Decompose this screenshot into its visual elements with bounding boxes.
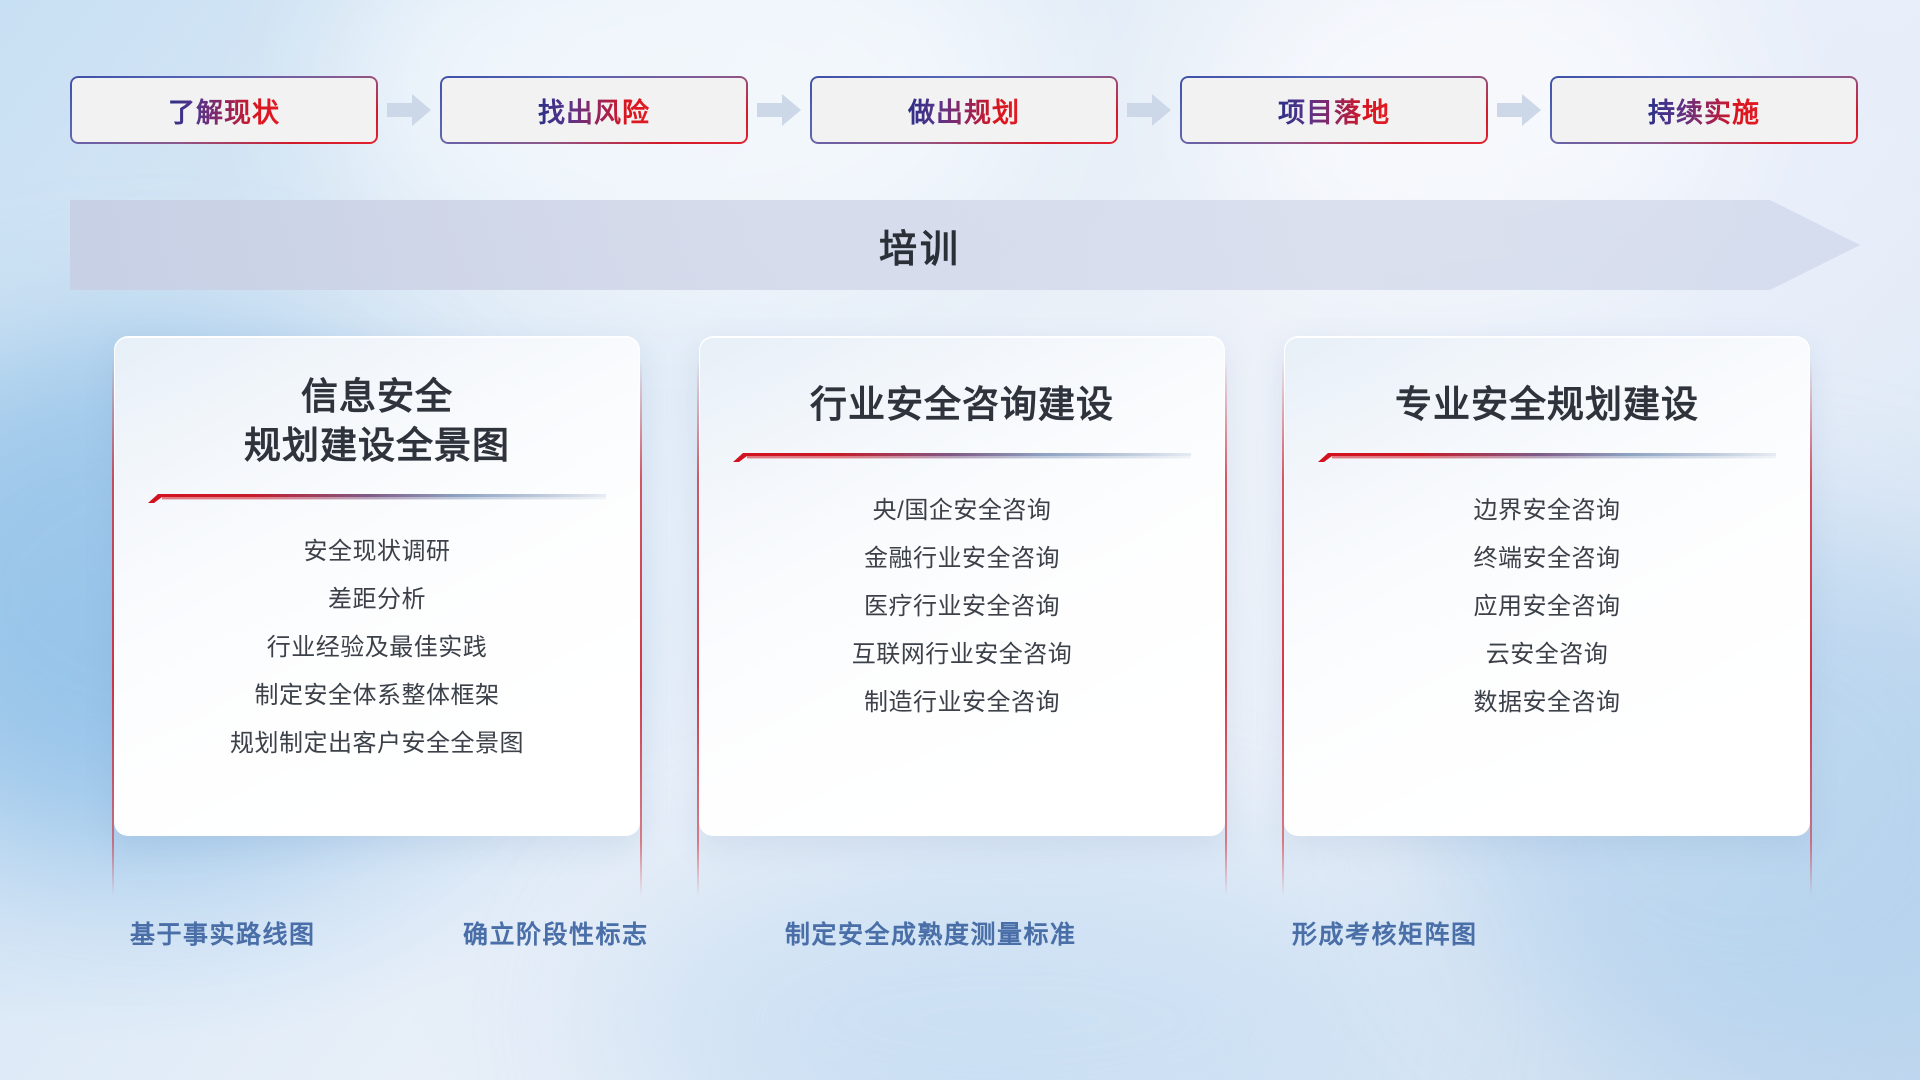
card-accent-rail-right: [640, 360, 642, 896]
list-item: 数据安全咨询: [1474, 682, 1621, 724]
training-banner: 培训: [70, 200, 1860, 290]
list-item: 应用安全咨询: [1474, 586, 1621, 628]
step-box-1[interactable]: 了解现状: [70, 76, 378, 144]
slide-canvas: 了解现状 找出风险 做出规划 项目落地: [0, 0, 1920, 1080]
card-accent-rail-right: [1225, 360, 1227, 896]
step-box-2[interactable]: 找出风险: [440, 76, 748, 144]
card-title-line: 行业安全咨询建设: [810, 381, 1114, 430]
caption-4: 形成考核矩阵图: [1292, 915, 1478, 951]
step-label: 找出风险: [538, 91, 650, 130]
card-divider: [148, 493, 606, 505]
list-item: 金融行业安全咨询: [864, 538, 1060, 580]
step-box-3[interactable]: 做出规划: [810, 76, 1118, 144]
list-item: 差距分析: [328, 579, 426, 621]
list-item: 央/国企安全咨询: [873, 490, 1052, 532]
banner-title: 培训: [70, 200, 1770, 290]
card-2-wrapper: 行业安全咨询建设: [697, 336, 1227, 876]
list-item: 行业经验及最佳实践: [267, 627, 488, 669]
card-3-list: 边界安全咨询 终端安全咨询 应用安全咨询 云安全咨询 数据安全咨询: [1285, 490, 1809, 724]
list-item: 安全现状调研: [304, 531, 451, 573]
arrow-right-icon: [378, 89, 440, 131]
card-title-line: 信息安全: [244, 373, 510, 422]
step-box-4[interactable]: 项目落地: [1180, 76, 1488, 144]
card-2-list: 央/国企安全咨询 金融行业安全咨询 医疗行业安全咨询 互联网行业安全咨询 制造行…: [700, 490, 1224, 724]
card-row: 信息安全 规划建设全景图: [112, 336, 1812, 876]
arrow-right-icon: [1118, 89, 1180, 131]
list-item: 医疗行业安全咨询: [864, 586, 1060, 628]
arrow-right-icon: [748, 89, 810, 131]
step-label: 了解现状: [168, 91, 280, 130]
list-item: 边界安全咨询: [1474, 490, 1621, 532]
list-item: 制定安全体系整体框架: [255, 675, 500, 717]
card-title: 专业安全规划建设: [1381, 381, 1713, 430]
card-title: 信息安全 规划建设全景图: [230, 373, 524, 471]
step-label: 持续实施: [1648, 91, 1760, 130]
process-step-row: 了解现状 找出风险 做出规划 项目落地: [70, 75, 1856, 145]
caption-row: 基于事实路线图 确立阶段性标志 制定安全成熟度测量标准 形成考核矩阵图: [0, 915, 1920, 955]
card-3[interactable]: 专业安全规划建设: [1284, 336, 1810, 836]
card-2[interactable]: 行业安全咨询建设: [699, 336, 1225, 836]
card-title-line: 专业安全规划建设: [1395, 381, 1699, 430]
card-divider: [1318, 452, 1776, 464]
card-1-list: 安全现状调研 差距分析 行业经验及最佳实践 制定安全体系整体框架 规划制定出客户…: [115, 531, 639, 765]
card-divider: [733, 452, 1191, 464]
list-item: 制造行业安全咨询: [864, 682, 1060, 724]
list-item: 规划制定出客户安全全景图: [230, 723, 524, 765]
caption-1: 基于事实路线图: [130, 915, 316, 951]
card-1-wrapper: 信息安全 规划建设全景图: [112, 336, 642, 876]
arrow-right-icon: [1488, 89, 1550, 131]
card-title-line: 规划建设全景图: [244, 422, 510, 471]
caption-3: 制定安全成熟度测量标准: [785, 915, 1077, 951]
caption-2: 确立阶段性标志: [463, 915, 649, 951]
list-item: 互联网行业安全咨询: [852, 634, 1073, 676]
step-label: 做出规划: [908, 91, 1020, 130]
step-box-5[interactable]: 持续实施: [1550, 76, 1858, 144]
card-3-wrapper: 专业安全规划建设: [1282, 336, 1812, 876]
list-item: 云安全咨询: [1486, 634, 1609, 676]
card-1[interactable]: 信息安全 规划建设全景图: [114, 336, 640, 836]
card-accent-rail-right: [1810, 360, 1812, 896]
card-title: 行业安全咨询建设: [796, 381, 1128, 430]
list-item: 终端安全咨询: [1474, 538, 1621, 580]
step-label: 项目落地: [1278, 91, 1390, 130]
